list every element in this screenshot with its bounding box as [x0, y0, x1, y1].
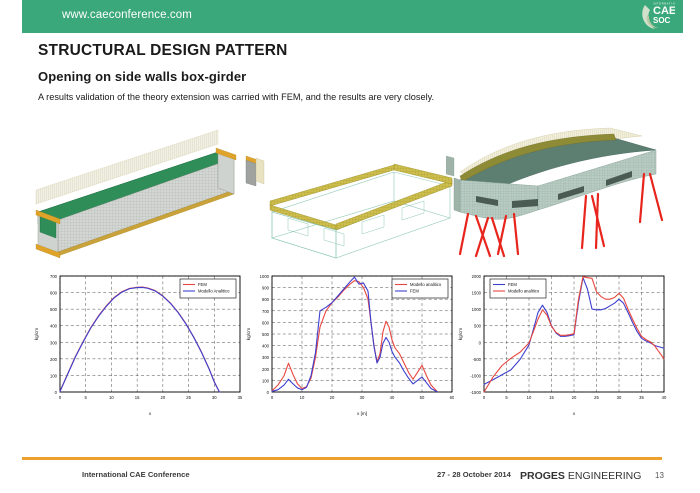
wireframe-box-girder-openings-icon [244, 126, 458, 266]
x-tick-label: 30 [360, 395, 365, 400]
y-tick-label: 2000 [472, 274, 482, 279]
legend-label: FEM [410, 289, 419, 294]
y-tick-label: 700 [50, 274, 58, 279]
y-tick-label: 900 [262, 286, 270, 291]
y-tick-label: 400 [262, 344, 270, 349]
x-tick-label: 15 [135, 395, 140, 400]
model-figure-deformed-supports [446, 126, 684, 266]
y-tick-label: 300 [50, 340, 58, 345]
footer-conference: International CAE Conference [82, 470, 190, 479]
svg-text:I N T E R N A T I O N A L: I N T E R N A T I O N A L [653, 2, 675, 6]
x-tick-label: 30 [212, 395, 217, 400]
x-tick-label: 20 [572, 395, 577, 400]
x-tick-label: 40 [390, 395, 395, 400]
y-axis-label: kg/cm [458, 328, 463, 340]
footer-page-number: 13 [655, 471, 664, 480]
y-axis-label: kg/cm [246, 328, 251, 340]
chart-1-panel: 010020030040050060070005101520253035xkg/… [30, 266, 248, 418]
page-subtitle: Opening on side walls box-girder [38, 69, 246, 84]
footer-date: 27 - 28 October 2014 [437, 470, 511, 479]
chart-row: 010020030040050060070005101520253035xkg/… [30, 266, 680, 418]
chart-3-panel: -1500-1000-50005001000150020000510152025… [454, 266, 672, 418]
legend-label: FEM [198, 282, 207, 287]
chart-2-svg: 0100200300400500600700800900100001020304… [242, 266, 460, 418]
chart-1-svg: 010020030040050060070005101520253035xkg/… [30, 266, 248, 418]
model-figure-solid-mesh [22, 126, 248, 266]
x-tick-label: 10 [527, 395, 532, 400]
x-tick-label: 15 [549, 395, 554, 400]
svg-text:SOC: SOC [653, 16, 671, 25]
y-tick-label: 400 [50, 324, 58, 329]
y-tick-label: 200 [262, 367, 270, 372]
y-tick-label: 800 [262, 297, 270, 302]
y-tick-label: -500 [473, 357, 482, 362]
x-tick-label: 20 [330, 395, 335, 400]
legend-label: Modello analitico [508, 289, 540, 294]
footer-company: PROGES ENGINEERING [520, 470, 641, 482]
y-axis-label: kg/cm [34, 328, 39, 340]
x-tick-label: 20 [161, 395, 166, 400]
y-tick-label: 500 [474, 324, 482, 329]
page-title: STRUCTURAL DESIGN PATTERN [38, 42, 288, 60]
lead-paragraph: A results validation of the theory exten… [38, 92, 434, 102]
x-tick-label: 50 [420, 395, 425, 400]
legend-label: Modello Analitico [198, 289, 230, 294]
x-tick-label: 10 [109, 395, 114, 400]
slide-root: www.caeconference.com CAE SOC I N T E R … [0, 0, 700, 493]
cae-society-logo-icon: CAE SOC I N T E R N A T I O N A L [641, 1, 675, 32]
model-figure-wireframe-openings [244, 126, 458, 266]
chart-3-svg: -1500-1000-50005001000150020000510152025… [454, 266, 672, 418]
y-tick-label: 1000 [472, 307, 482, 312]
y-tick-label: 100 [262, 378, 270, 383]
legend-label: FEM [508, 282, 517, 287]
legend-label: Modello analitico [410, 282, 442, 287]
y-tick-label: 300 [262, 355, 270, 360]
footer-company-bold: PROGES [520, 470, 565, 482]
y-tick-label: -1000 [470, 373, 481, 378]
y-tick-label: 700 [262, 309, 270, 314]
y-tick-label: 1500 [472, 291, 482, 296]
x-tick-label: 40 [662, 395, 667, 400]
y-tick-label: -1500 [470, 390, 481, 395]
y-tick-label: 500 [50, 307, 58, 312]
x-tick-label: 25 [186, 395, 191, 400]
chart-2-panel: 0100200300400500600700800900100001020304… [242, 266, 460, 418]
x-tick-label: 25 [594, 395, 599, 400]
conference-url: www.caeconference.com [62, 9, 192, 21]
x-tick-label: 30 [617, 395, 622, 400]
y-tick-label: 500 [262, 332, 270, 337]
deformed-box-girder-supports-icon [446, 126, 684, 266]
footer-company-rest: ENGINEERING [565, 470, 641, 482]
y-tick-label: 200 [50, 357, 58, 362]
y-tick-label: 1000 [260, 274, 270, 279]
y-tick-label: 600 [50, 291, 58, 296]
x-tick-label: 35 [639, 395, 644, 400]
model-figure-row [22, 126, 684, 266]
solid-mesh-box-girder-icon [22, 126, 248, 266]
x-axis-label: x [m] [357, 411, 367, 416]
x-tick-label: 10 [300, 395, 305, 400]
y-tick-label: 600 [262, 320, 270, 325]
footer-rule [22, 457, 662, 460]
y-tick-label: 100 [50, 373, 58, 378]
header-banner: www.caeconference.com CAE SOC I N T E R … [22, 0, 683, 33]
